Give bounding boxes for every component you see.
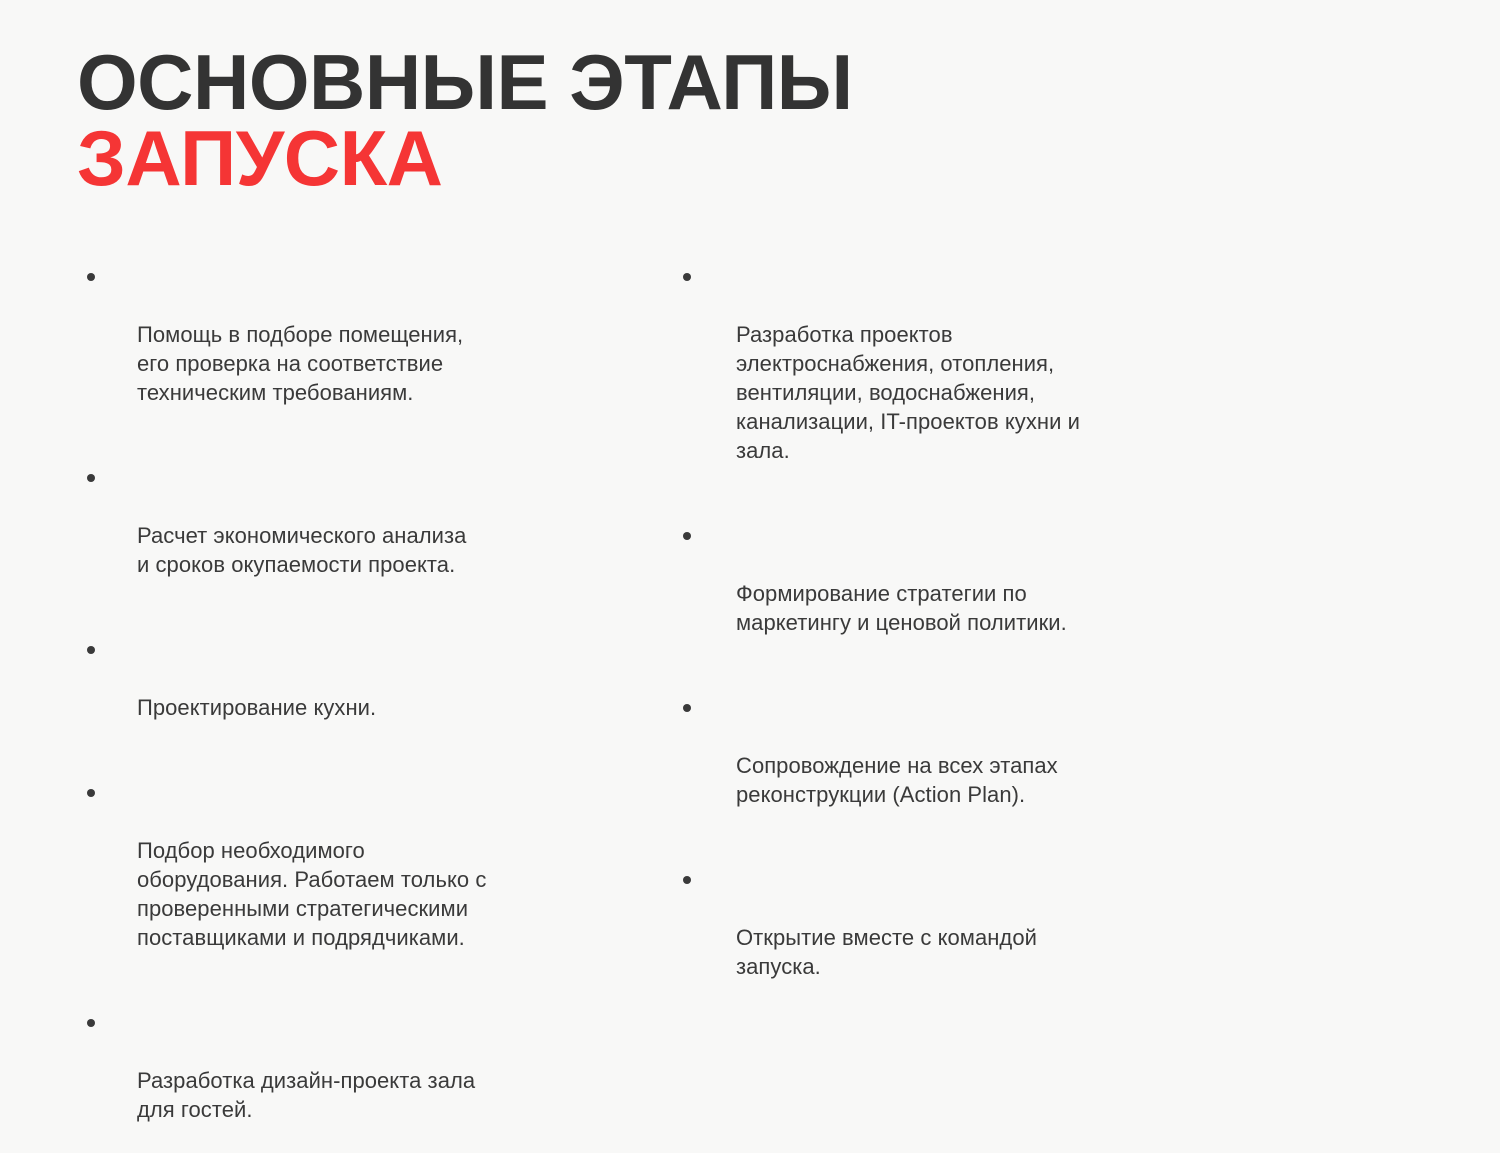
list-item: Сопровождение на всех этапах реконструкц… xyxy=(669,693,1176,838)
list-item: Расчет экономического анализа и сроков о… xyxy=(77,463,597,608)
bullet-column-right: Разработка проектов электроснабжения, от… xyxy=(669,262,1189,1010)
bullet-column-left: Помощь в подборе помещения, его проверка… xyxy=(77,262,597,1153)
list-item-text: Проектирование кухни. xyxy=(137,693,597,722)
list-item: Открытие вместе с командой запуска. xyxy=(669,865,1176,1010)
bullet-dot-icon xyxy=(87,646,95,654)
list-item-text: Разработка дизайн-проекта зала для госте… xyxy=(137,1066,597,1124)
list-item-text: Формирование стратегии по маркетингу и ц… xyxy=(736,579,1176,637)
bullet-list-right: Разработка проектов электроснабжения, от… xyxy=(669,262,1189,1010)
list-item-text: Помощь в подборе помещения, его проверка… xyxy=(137,320,597,407)
bullet-dot-icon xyxy=(87,1019,95,1027)
list-item-text: Подбор необходимого оборудования. Работа… xyxy=(137,836,597,952)
bullet-dot-icon xyxy=(87,789,95,797)
list-item-text: Разработка проектов электроснабжения, от… xyxy=(736,320,1176,465)
list-item: Проектирование кухни. xyxy=(77,635,597,751)
list-item: Разработка дизайн-проекта зала для госте… xyxy=(77,1008,597,1153)
list-item-text: Сопровождение на всех этапах реконструкц… xyxy=(736,751,1176,809)
list-item: Помощь в подборе помещения, его проверка… xyxy=(77,262,597,436)
list-item-text: Расчет экономического анализа и сроков о… xyxy=(137,521,597,579)
bullet-dot-icon xyxy=(683,876,691,884)
bullet-dot-icon xyxy=(683,532,691,540)
list-item-text: Открытие вместе с командой запуска. xyxy=(736,923,1176,981)
bullet-list-left: Помощь в подборе помещения, его проверка… xyxy=(77,262,597,1153)
bullet-dot-icon xyxy=(87,273,95,281)
slide-root: ОСНОВНЫЕ ЭТАПЫ ЗАПУСКА Помощь в подборе … xyxy=(0,0,1500,844)
bullet-dot-icon xyxy=(87,474,95,482)
title-line-primary: ОСНОВНЫЕ ЭТАПЫ xyxy=(77,44,1417,120)
bullet-dot-icon xyxy=(683,704,691,712)
list-item: Подбор необходимого оборудования. Работа… xyxy=(77,778,597,981)
title-line-accent: ЗАПУСКА xyxy=(77,120,1417,196)
page-title: ОСНОВНЫЕ ЭТАПЫ ЗАПУСКА xyxy=(77,44,1417,196)
bullet-dot-icon xyxy=(683,273,691,281)
list-item: Разработка проектов электроснабжения, от… xyxy=(669,262,1176,494)
content-columns: Помощь в подборе помещения, его проверка… xyxy=(77,262,1437,1153)
list-item: Формирование стратегии по маркетингу и ц… xyxy=(669,521,1176,666)
